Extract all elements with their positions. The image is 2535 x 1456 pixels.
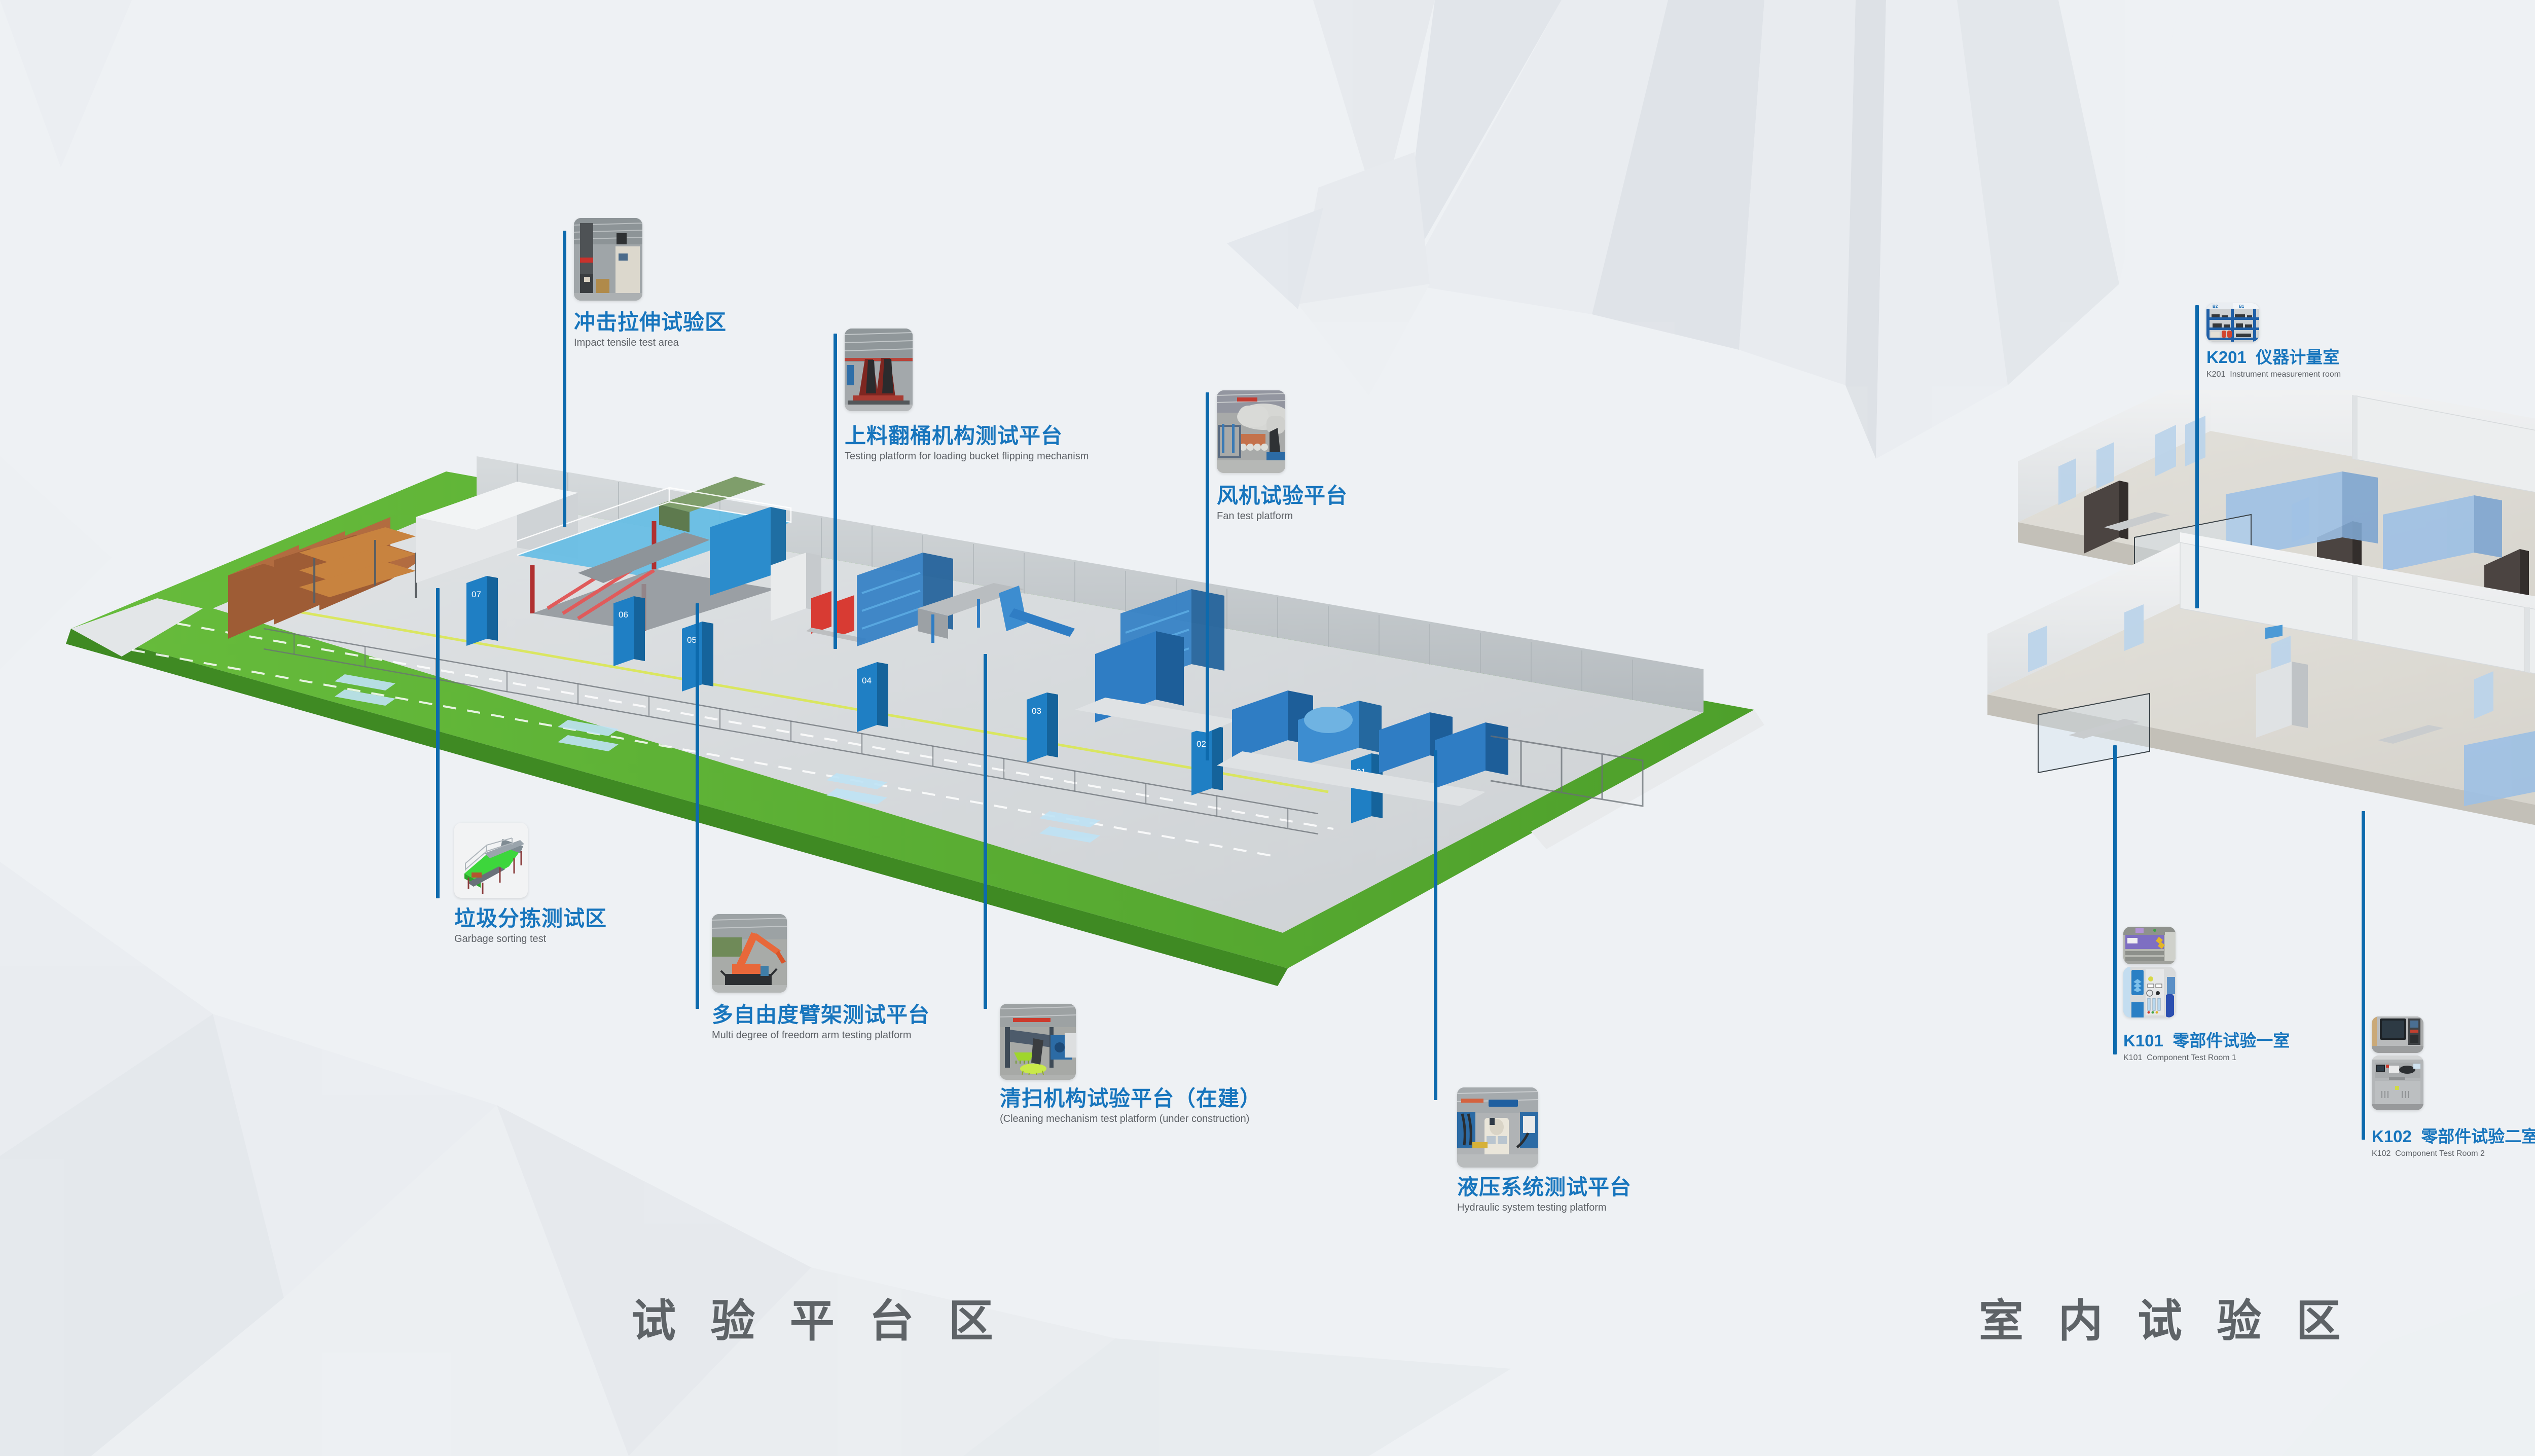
callout-cleaning-mechanism[interactable]: 清扫机构试验平台（在建） (Cleaning mechanism test pl… (984, 654, 1379, 1110)
callout-title-cn: K102 零部件试验二室 (2372, 1128, 2535, 1146)
callout-title-en: Testing platform for loading bucket flip… (845, 451, 1089, 462)
sweeper-brush-rig-photo (1000, 1004, 1076, 1080)
callout-k201[interactable]: B2 B1 K201 仪器计量室 K201 Ins (2195, 294, 2479, 608)
callout-title-cn: K101 零部件试验一室 (2123, 1032, 2290, 1050)
callout-leader-line (436, 588, 440, 898)
callout-thumbnails: B2 B1 (2206, 303, 2259, 342)
room-name-en: Component Test Room 2 (2395, 1149, 2485, 1158)
room-code-en: K101 (2123, 1053, 2142, 1062)
callout-title-en: Multi degree of freedom arm testing plat… (712, 1030, 930, 1041)
callout-title-cn: 清扫机构试验平台（在建） (1000, 1087, 1261, 1110)
callout-title-en: (Cleaning mechanism test platform (under… (1000, 1113, 1261, 1124)
callout-leader-line (2113, 745, 2117, 1054)
section-title-left: 试 验 平 台 区 (631, 1285, 1004, 1350)
room-code-en: K102 (2372, 1149, 2391, 1158)
callout-title-cn: 液压系统测试平台 (1457, 1176, 1632, 1198)
section-title-right: 室 内 试 验 区 (1979, 1285, 2352, 1350)
room-name-cn: 仪器计量室 (2256, 348, 2339, 367)
bucket-flipping-rig-photo (845, 329, 913, 411)
callout-hydraulic-system[interactable]: 液压系统测试平台 Hydraulic system testing platfo… (1434, 750, 1789, 1242)
callout-k101[interactable]: K101 零部件试验一室 K101 Component Test Room 1 (2113, 745, 2397, 1075)
callout-thumbnails (845, 329, 913, 411)
garbage-sorting-conveyor-render (454, 823, 528, 898)
callout-title-en: K201 Instrument measurement room (2206, 370, 2341, 379)
callout-thumbnails (2123, 927, 2176, 1017)
thermal-shock-chamber-photo (2372, 1055, 2423, 1110)
callout-leader-line (696, 603, 699, 1009)
salt-spray-chamber-photo (2372, 1016, 2423, 1053)
room-code: K101 (2123, 1031, 2163, 1050)
callout-title-en: K102 Component Test Room 2 (2372, 1149, 2535, 1158)
callout-leader-line (563, 231, 566, 527)
callout-leader-line (984, 654, 987, 1009)
callout-title-cn: 垃圾分拣测试区 (454, 907, 607, 930)
callout-title-cn: 上料翻桶机构测试平台 (845, 425, 1089, 447)
orange-robotic-arm-photo (712, 914, 787, 993)
tensile-testing-machine-photo (574, 218, 642, 301)
callout-title-cn: 多自由度臂架测试平台 (712, 1004, 930, 1026)
callout-title-en: K101 Component Test Room 1 (2123, 1053, 2290, 1063)
room-name-en: Component Test Room 1 (2147, 1053, 2236, 1062)
callout-leader-line (834, 334, 837, 649)
callout-k102[interactable]: K102 零部件试验二室 K102 Component Test Room 2 (2362, 811, 2535, 1156)
svg-text:B2: B2 (2213, 304, 2218, 309)
callout-title-en: Garbage sorting test (454, 933, 607, 944)
callout-thumbnails (574, 218, 642, 301)
callout-thumbnails (712, 914, 787, 993)
callout-title-cn: 冲击拉伸试验区 (574, 311, 727, 334)
room-name-en: Instrument measurement room (2230, 370, 2341, 379)
callout-garbage-sorting[interactable]: 垃圾分拣测试区 Garbage sorting test (436, 588, 720, 994)
callout-thumbnails (1457, 1087, 1538, 1168)
room-code-en: K201 (2206, 370, 2225, 379)
callout-thumbnails (1000, 1004, 1076, 1080)
callout-title-en: Fan test platform (1217, 511, 1348, 522)
room-name-cn: 零部件试验一室 (2172, 1031, 2290, 1050)
svg-text:B1: B1 (2239, 304, 2244, 309)
instrument-shelf-rack-photo: B2 B1 (2206, 303, 2259, 342)
room-name-cn: 零部件试验二室 (2421, 1127, 2535, 1146)
callout-leader-line (1434, 750, 1437, 1100)
callout-thumbnails (2372, 1016, 2423, 1110)
callout-leader-line (2362, 811, 2365, 1140)
callout-thumbnails (454, 823, 528, 898)
callout-title-cn: K201 仪器计量室 (2206, 349, 2341, 367)
fan-duct-test-rig-photo (1217, 390, 1285, 473)
callout-leader-line (2195, 305, 2199, 608)
callout-title-en: Impact tensile test area (574, 337, 727, 348)
gas-analyzer-rig-photo (2123, 967, 2176, 1017)
callout-thumbnails (1217, 390, 1285, 473)
callout-title-cn: 风机试验平台 (1217, 485, 1348, 507)
callout-title-en: Hydraulic system testing platform (1457, 1202, 1632, 1213)
environmental-chamber-photo (2123, 927, 2176, 964)
room-code: K102 (2372, 1127, 2412, 1146)
hydraulic-test-bench-photo (1457, 1087, 1538, 1168)
room-code: K201 (2206, 348, 2247, 367)
